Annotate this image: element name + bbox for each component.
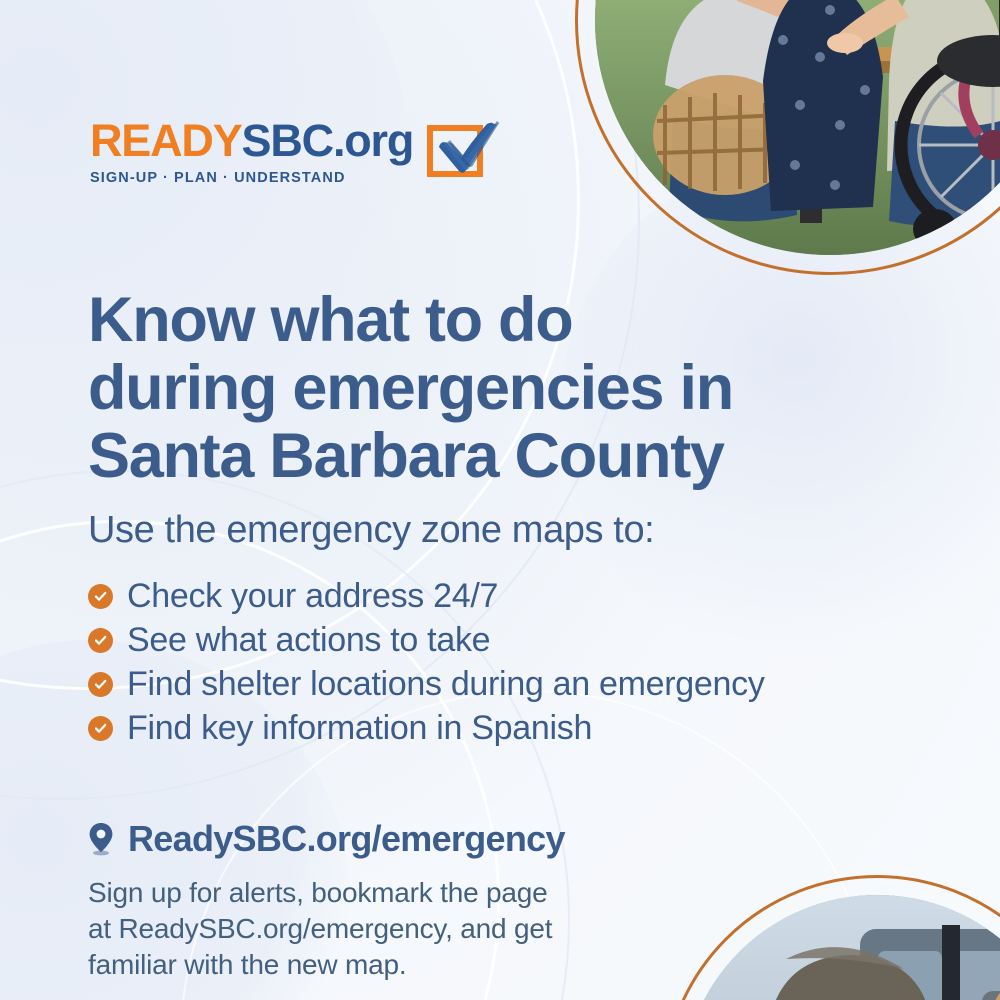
logo-checkmark-icon bbox=[427, 121, 495, 183]
check-circle-icon bbox=[88, 672, 113, 697]
list-item-label: Check your address 24/7 bbox=[127, 579, 498, 613]
logo-word-ready: READY bbox=[90, 118, 242, 163]
logo-check-stroke bbox=[429, 117, 497, 183]
list-item: See what actions to take bbox=[88, 618, 765, 662]
list-item: Find key information in Spanish bbox=[88, 706, 765, 750]
check-circle-icon bbox=[88, 716, 113, 741]
footer-note-line-3: familiar with the new map. bbox=[88, 947, 628, 983]
check-circle-icon bbox=[88, 628, 113, 653]
cta-url-text: ReadySBC.org/emergency bbox=[128, 818, 565, 860]
list-item-label: Find shelter locations during an emergen… bbox=[127, 667, 765, 701]
footer-note-line-1: Sign up for alerts, bookmark the page bbox=[88, 875, 628, 911]
footer-note: Sign up for alerts, bookmark the page at… bbox=[88, 875, 628, 982]
benefits-list: Check your address 24/7 See what actions… bbox=[88, 574, 765, 750]
headline-line-3: Santa Barbara County bbox=[88, 422, 848, 490]
map-pin-icon bbox=[88, 822, 114, 856]
logo-wordmark: READY SBC.org SIGN-UP · PLAN · UNDERSTAN… bbox=[90, 118, 413, 186]
subheading: Use the emergency zone maps to: bbox=[88, 508, 654, 554]
photo-top-right bbox=[595, 0, 1000, 255]
photo-bottom-right-artwork bbox=[682, 895, 1000, 1000]
list-item: Find shelter locations during an emergen… bbox=[88, 662, 765, 706]
list-item-label: See what actions to take bbox=[127, 623, 490, 657]
poster-canvas: READY SBC.org SIGN-UP · PLAN · UNDERSTAN… bbox=[0, 0, 1000, 1000]
check-circle-icon bbox=[88, 584, 113, 609]
cta-url-link[interactable]: ReadySBC.org/emergency bbox=[88, 818, 565, 860]
page-title: Know what to do during emergencies in Sa… bbox=[88, 286, 848, 490]
readysbc-logo[interactable]: READY SBC.org SIGN-UP · PLAN · UNDERSTAN… bbox=[90, 118, 495, 186]
photo-top-right-artwork bbox=[595, 0, 1000, 255]
headline-line-2: during emergencies in bbox=[88, 354, 848, 422]
headline-line-1: Know what to do bbox=[88, 286, 848, 354]
list-item-label: Find key information in Spanish bbox=[127, 711, 592, 745]
photo-bottom-right bbox=[682, 895, 1000, 1000]
footer-note-line-2: at ReadySBC.org/emergency, and get bbox=[88, 911, 628, 947]
logo-tagline: SIGN-UP · PLAN · UNDERSTAND bbox=[90, 170, 413, 186]
logo-wordmark-text: READY SBC.org bbox=[90, 118, 413, 163]
list-item: Check your address 24/7 bbox=[88, 574, 765, 618]
logo-word-sbc: SBC.org bbox=[242, 118, 414, 163]
